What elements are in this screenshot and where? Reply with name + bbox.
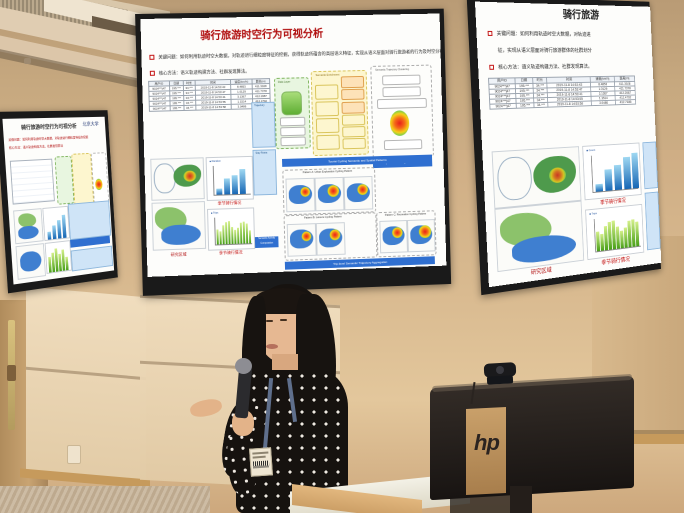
right-slide-side-panel-2 — [645, 192, 661, 251]
flow-node-orange-2 — [341, 89, 364, 100]
wall-whiteboard-left — [26, 287, 146, 487]
cell: 3.0486 — [591, 100, 615, 105]
cell: 9024***j47 — [149, 106, 170, 112]
side-banner-activity: Semantic Activity Computation — [255, 236, 279, 248]
pattern-label-c: Pattern C: Recreation Cycling Pattern — [385, 213, 426, 217]
right-slide-title: 骑行旅游 — [562, 6, 599, 22]
bar-0 — [216, 189, 222, 195]
flow-node-orange-4 — [342, 114, 365, 125]
hp-logo: hp — [474, 430, 499, 456]
presentation-room-photo: 骑行旅游时空行为可视分析 北京大学 关键问题：如何利用轨迹时空大数据，对轨迹进行… — [0, 0, 684, 513]
chart-legend-duration: ■ Duration — [210, 160, 221, 163]
left-slide-panel-blue-2 — [71, 246, 113, 272]
pattern-label-b: Pattern B: Leisure Cycling Pattern — [304, 215, 342, 219]
side-panel-label-trajectory: Trajectory — [254, 104, 264, 107]
chart-legend-seasonal: ■ Trips — [211, 212, 218, 215]
hp-monitor-rear[interactable] — [430, 376, 634, 500]
right-slide-bullet-1: 关键问题：如何利用轨迹时空大数据，对轨迹进 — [497, 31, 591, 38]
flow-node-db — [281, 91, 302, 115]
webcam-mount — [487, 375, 513, 384]
left-screen-surface[interactable]: 骑行旅游时空行为可视分析 北京大学 关键问题：如何利用轨迹时空大数据，对轨迹进行… — [2, 117, 114, 285]
left-slide-table — [10, 159, 55, 205]
center-slide-title: 骑行旅游时空行为可视分析 — [200, 26, 323, 43]
left-slide-chart-1 — [42, 206, 70, 241]
left-slide-bullet-1: 关键问题：如何利用轨迹时空大数据，对轨迹进行细粒度特征的挖掘 — [8, 134, 88, 142]
right-seasonal-chart: ■ Trips — [585, 204, 644, 260]
flow-node-sem-4 — [316, 135, 340, 150]
flow-node-orange-5 — [342, 126, 365, 137]
left-slide-flow-white — [91, 152, 109, 203]
pattern-a-map-1 — [285, 178, 315, 213]
room-floor-carpet — [0, 486, 210, 513]
bullet-icon — [149, 55, 154, 60]
left-slide-bullet-2: 核心方法：语义轨迹构建方法、社群发现算法 — [9, 143, 63, 150]
left-slide-logo: 北京大学 — [82, 121, 99, 128]
cell: 34.*** — [534, 102, 549, 107]
pattern-b-map-2 — [316, 222, 346, 256]
left-slide-chart-2 — [45, 240, 72, 274]
cluster-node-3 — [377, 98, 427, 109]
cell: 2019-11-8 14:53:58 — [548, 101, 592, 107]
flow-node-orange-3 — [341, 101, 364, 113]
presenter — [180, 282, 370, 513]
right-bullet-row-1: 关键问题：如何利用轨迹时空大数据，对轨迹进 — [488, 30, 591, 38]
flow-node-data-3 — [280, 137, 305, 147]
left-slide-map-2 — [16, 243, 46, 280]
pattern-c-map-2 — [407, 219, 435, 252]
cell: 34.*** — [184, 105, 196, 110]
flow-group-label-data: Data Layer — [278, 81, 290, 84]
seasonal-cycling-chart: ■ Trips — [207, 207, 255, 250]
bullet-icon-r1 — [488, 31, 493, 36]
flow-node-sem-2 — [315, 101, 339, 116]
bullet-icon-2 — [150, 71, 155, 76]
side-panel-staypoints: Stay Points — [252, 149, 277, 195]
presenter-mouth — [266, 344, 278, 349]
cluster-node-4 — [384, 139, 422, 150]
cell: 412.7186 — [615, 100, 635, 105]
right-duration-chart: ■ Count — [582, 143, 641, 201]
microphone-head-icon — [235, 358, 252, 374]
bar-1 — [224, 178, 230, 194]
pattern-label-a: Pattern A: Urban Exploration Cycling Pat… — [303, 170, 353, 174]
right-chart-legend: ■ Count — [586, 148, 595, 152]
flow-node-data-1 — [280, 117, 305, 127]
cell: 2019-11-8 14:53:58 — [195, 104, 231, 110]
left-slide-title: 骑行旅游时空行为可视分析 — [21, 122, 77, 131]
monitor-stand — [510, 486, 532, 513]
flow-node-orange-6 — [342, 138, 365, 149]
name-badge — [249, 447, 273, 476]
center-bullet-row-1: 关键问题：如何利用轨迹时空大数据，对轨迹进行细粒度特征的挖掘，获得轨迹所蕴含的高… — [149, 48, 446, 60]
seasonal-caption-bottom: 季节骑行情况 — [208, 249, 253, 257]
right-screen-surface[interactable]: 骑行旅游 关键问题：如何利用轨迹时空大数据，对轨迹进 征，实现从语义层面对骑行旅… — [475, 2, 661, 288]
right-slide-side-panel-1 — [642, 142, 658, 190]
cell: 195.*** — [516, 103, 534, 108]
cell: 195.*** — [170, 105, 184, 110]
flow-node-orange-1 — [341, 76, 364, 88]
pattern-a-map-3 — [344, 176, 374, 210]
pattern-c-map-1 — [379, 220, 408, 253]
ceiling-sensor — [24, 58, 31, 64]
side-panel-label-staypoints: Stay Points — [255, 151, 267, 154]
pattern-b-map-1 — [287, 223, 317, 257]
flow-node-sem-3 — [316, 118, 340, 133]
flow-group-label-semantic: Semantic Enrichment — [316, 74, 340, 78]
right-study-map-top — [492, 146, 582, 209]
right-slide-data-table: 用户ID 日期 时长 时间 速度(km/h) 距离(m) 9024***j47 … — [488, 75, 636, 109]
cycling-duration-chart: ■ Duration — [206, 156, 254, 201]
center-bullet-row-2: 核心方法：语义轨迹构建方法、社群发现算法。 — [150, 69, 250, 77]
side-panel-trajectory: Trajectory — [251, 102, 276, 148]
pattern-a-map-2 — [315, 177, 345, 211]
center-screen-surface[interactable]: 骑行旅游时空行为可视分析 关键问题：如何利用轨迹时空大数据，对轨迹进行细粒度特征… — [140, 14, 446, 277]
study-area-map-top — [150, 157, 205, 201]
right-slide-bullet-2: 征，实现从语义层面对骑行旅游群体的社群划分 — [498, 47, 592, 54]
bar-3 — [239, 169, 246, 194]
door-lock-icon — [7, 365, 16, 381]
flow-node-data-2 — [280, 127, 305, 137]
center-slide-bullet-2: 核心方法：语义轨迹构建方法、社群发现算法。 — [159, 69, 250, 76]
webcam-lens-icon — [496, 366, 504, 374]
left-slide-map-1 — [13, 208, 44, 244]
power-outlet — [67, 445, 81, 464]
flow-group-label-clustering: Semantic Trajectory Clustering — [375, 68, 409, 72]
cell: 3.0486 — [232, 104, 253, 109]
cluster-node-2 — [382, 86, 420, 97]
cell: 9024***j47 — [490, 103, 517, 109]
center-slide-bullet-1: 关键问题：如何利用轨迹时空大数据，对轨迹进行细粒度特征的挖掘，获得轨迹所蕴含的高… — [158, 48, 446, 59]
presenter-hand-gesture — [189, 397, 224, 419]
flow-node-sem-1 — [315, 84, 339, 99]
right-bullet-row-3: 核心方法：语义轨迹构建方法、社群发现算法。 — [489, 63, 592, 71]
left-slide-panel-blue — [68, 200, 111, 240]
cluster-node-1 — [382, 75, 420, 86]
bar-2 — [232, 175, 238, 194]
study-area-map-bottom — [151, 201, 206, 251]
study-area-caption: 研究区域 — [153, 251, 205, 259]
right-chart-legend-2: ■ Trips — [589, 211, 597, 215]
seasonal-chart-title: 季节骑行情况 — [207, 200, 252, 207]
bullet-icon-r2 — [489, 65, 494, 70]
right-slide-bullet-3: 核心方法：语义轨迹构建方法、社群发现算法。 — [498, 64, 592, 71]
